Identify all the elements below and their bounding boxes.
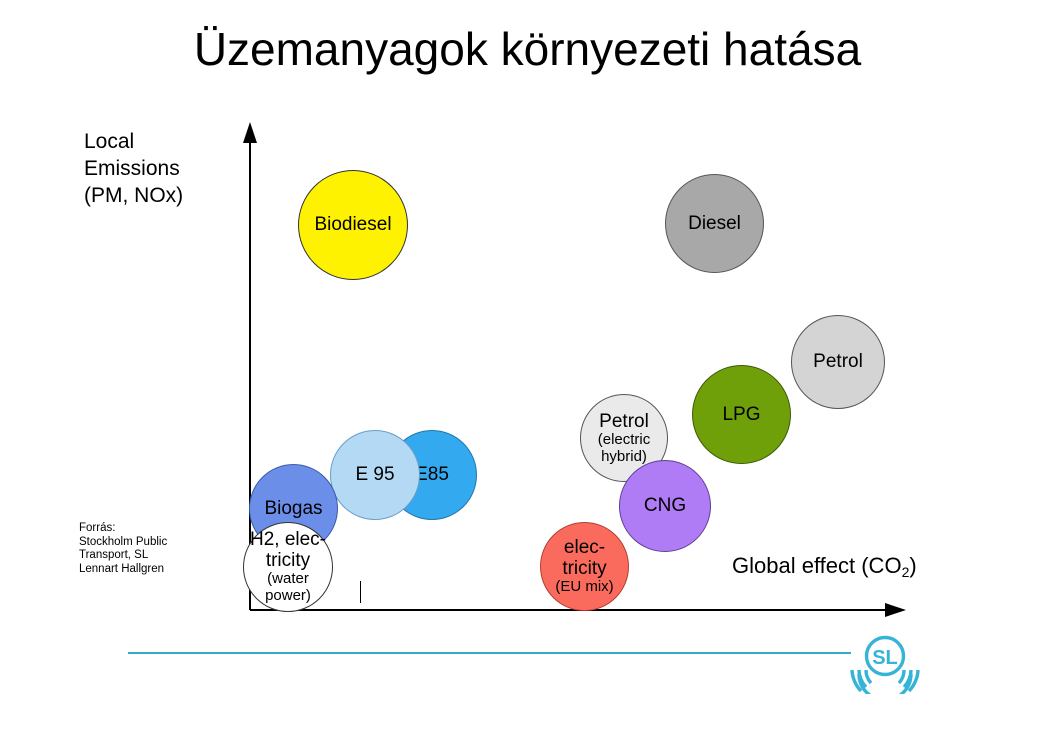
bubble-label-main: CNG [620,495,710,516]
sl-logo: SL [849,628,921,694]
bubble-lpg[interactable]: LPG [692,365,791,464]
bubble-label-main: H2, elec- tricity [244,529,332,572]
x-axis-label-tail: ) [909,553,916,578]
page-title: Üzemanyagok környezeti hatása [0,22,1055,76]
bubble-petrol[interactable]: Petrol [791,315,885,409]
bubble-label-main: Diesel [666,213,763,234]
bubble-h2-electricity-water-power[interactable]: H2, elec- tricity(water power) [243,522,333,612]
bubble-label: elec- tricity(EU mix) [541,537,628,596]
slide-canvas: Üzemanyagok környezeti hatása Local Emis… [0,0,1055,741]
source-note: Forrás: Stockholm Public Transport, SL L… [79,522,167,576]
bubble-label-main: Petrol [792,351,884,372]
bubble-cng[interactable]: CNG [619,460,711,552]
bubble-label-main: elec- tricity [541,537,628,580]
sl-logo-text: SL [872,647,898,669]
bubble-biodiesel[interactable]: Biodiesel [298,170,408,280]
bubble-label: E 95 [331,464,419,485]
bubble-label-main: Biodiesel [299,214,407,235]
bubble-label-sub: (EU mix) [541,579,628,596]
bubble-label-main: Petrol [581,411,667,432]
bubble-label: Petrol(electric hybrid) [581,411,667,466]
bubble-label-sub: (water power) [244,571,332,605]
bubble-label-main: E 95 [331,464,419,485]
bubble-label: Biogas [250,498,337,519]
bubble-label-main: LPG [693,404,790,425]
bubble-label: Petrol [792,351,884,372]
bubble-label: H2, elec- tricity(water power) [244,529,332,605]
x-axis-label-text: Global effect (CO [732,553,902,578]
bubble-label-main: Biogas [250,498,337,519]
bubble-label: Diesel [666,213,763,234]
bubble-label: Biodiesel [299,214,407,235]
bubble-label: CNG [620,495,710,516]
footer-divider [128,652,851,654]
x-axis-label-subscript: 2 [902,564,910,580]
bubble-e-95[interactable]: E 95 [330,430,420,520]
text-caret [360,581,361,603]
x-axis-label: Global effect (CO2) [732,553,917,579]
bubble-label: LPG [693,404,790,425]
bubble-diesel[interactable]: Diesel [665,174,764,273]
y-axis-label: Local Emissions (PM, NOx) [84,128,183,209]
bubble-electricity-eu-mix[interactable]: elec- tricity(EU mix) [540,522,629,611]
